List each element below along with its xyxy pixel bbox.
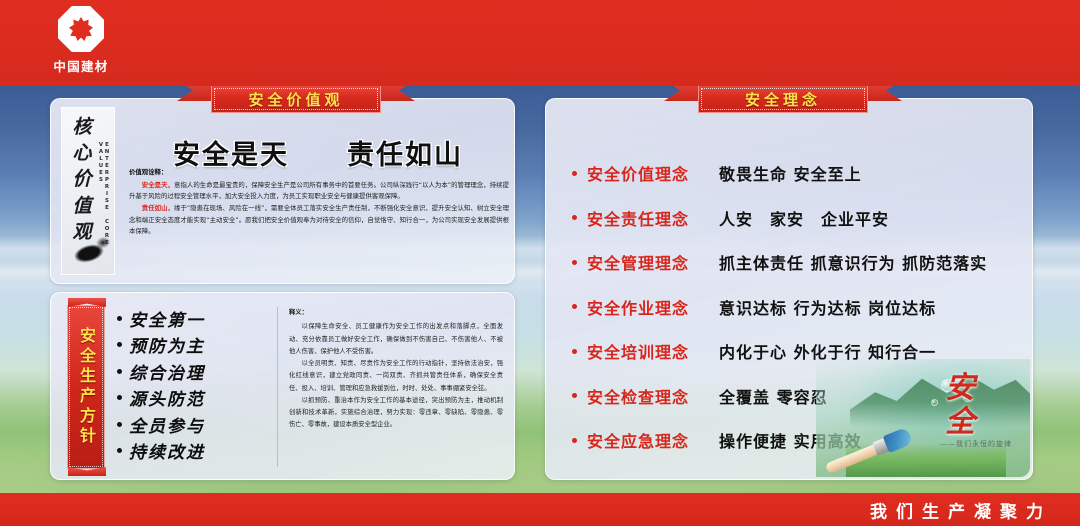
- bullet-dot-icon: [572, 304, 577, 309]
- list-item: 源头防范: [117, 385, 267, 412]
- concept-row-list: 安全价值理念 敬畏生命 安全至上 安全责任理念 人安 家安 企业平安 安全管理理…: [572, 151, 1022, 463]
- header-band: 中国建材: [0, 0, 1080, 86]
- safety-culture-poster: 中国建材 安全价值观 核心价值观 ENTERPRISE CORE VALUES …: [0, 0, 1080, 526]
- policy-item-label: 持续改进: [129, 438, 205, 463]
- safety-policy-panel: 安全生产方针 安全第一 预防为主 综合治理 源头防范 全员参与: [50, 292, 515, 480]
- policy-expl-paragraph-2: 以全员明责、知责、尽责作为安全工作的行动指针，坚持依法治安，强化红线意识，建立党…: [289, 358, 503, 395]
- policy-expl-title: 释义：: [289, 307, 503, 319]
- concept-label: 安全管理理念: [587, 250, 719, 274]
- values-ribbon-banner: 安全价值观: [211, 85, 381, 113]
- bullet-dot-icon: [117, 369, 122, 374]
- concept-value: 操作便捷 实用高效: [719, 428, 862, 452]
- bullet-dot-icon: [117, 342, 122, 347]
- concept-label: 安全责任理念: [587, 206, 719, 230]
- list-item: 安全检查理念 全覆盖 零容忍: [572, 374, 1022, 419]
- footer-slogan: 我们生产凝聚力: [870, 497, 1052, 522]
- list-item: 安全管理理念 抓主体责任 抓意识行为 抓防范落实: [572, 240, 1022, 285]
- bullet-dot-icon: [572, 349, 577, 354]
- policy-item-label: 安全第一: [129, 306, 205, 331]
- bullet-dot-icon: [572, 438, 577, 443]
- bullet-dot-icon: [572, 171, 577, 176]
- values-paragraph-2: 责任如山，缘于“隐患在现场、风险在一线”，需要全体员工落实安全生产责任制，不断强…: [129, 203, 509, 238]
- values-ribbon-title: 安全价值观: [248, 89, 343, 110]
- list-item: 预防为主: [117, 332, 267, 359]
- footer-band: 我们生产凝聚力: [0, 493, 1080, 526]
- concept-label: 安全作业理念: [587, 295, 719, 319]
- list-item: 综合治理: [117, 358, 267, 385]
- cnbm-octagon-star-logo-icon: [58, 6, 104, 52]
- concept-label: 安全应急理念: [587, 428, 719, 452]
- list-item: 安全第一: [117, 305, 267, 332]
- bullet-dot-icon: [572, 215, 577, 220]
- list-item: 安全责任理念 人安 家安 企业平安: [572, 196, 1022, 241]
- core-values-panel: 安全价值观 核心价值观 ENTERPRISE CORE VALUES 安全是天 …: [50, 98, 515, 284]
- calligraphy-strip: 核心价值观 ENTERPRISE CORE VALUES: [61, 107, 115, 275]
- bullet-dot-icon: [117, 448, 122, 453]
- list-item: 安全培训理念 内化于心 外化于行 知行合一: [572, 329, 1022, 374]
- concepts-ribbon-banner: 安全理念: [698, 85, 868, 113]
- policy-item-label: 全员参与: [129, 412, 205, 437]
- list-item: 安全价值理念 敬畏生命 安全至上: [572, 151, 1022, 196]
- policy-explanation-body: 释义： 以保障生命安全、员工健康作为安全工作的出发点和落脚点，全面发动、充分依靠…: [289, 307, 503, 432]
- concept-value: 全覆盖 零容忍: [719, 384, 828, 408]
- concept-label: 安全培训理念: [587, 339, 719, 363]
- policy-item-list: 安全第一 预防为主 综合治理 源头防范 全员参与 持续改进: [117, 305, 267, 464]
- bullet-dot-icon: [572, 260, 577, 265]
- list-item: 持续改进: [117, 438, 267, 465]
- ribbon-body: 安全价值观: [211, 85, 381, 113]
- concept-value: 意识达标 行为达标 岗位达标: [719, 295, 936, 319]
- bullet-dot-icon: [117, 395, 122, 400]
- safety-concepts-panel: 安全理念 安全价值理念 敬畏生命 安全至上 安全责任理念 人安 家安 企业平安 …: [545, 98, 1033, 480]
- bullet-dot-icon: [117, 422, 122, 427]
- concept-value: 内化于心 外化于行 知行合一: [719, 339, 936, 363]
- values-body-title: 价值观诠释：: [129, 167, 509, 179]
- values-para2-text: 缘于“隐患在现场、风险在一线”，需要全体员工落实安全生产责任制，不断强化安全意识…: [129, 204, 509, 235]
- concept-value: 抓主体责任 抓意识行为 抓防范落实: [719, 250, 987, 274]
- policy-item-label: 源头防范: [129, 385, 205, 410]
- list-item: 全员参与: [117, 411, 267, 438]
- values-para2-lead: 责任如山，: [142, 204, 174, 212]
- brand-name: 中国建材: [53, 56, 108, 75]
- concept-value: 人安 家安 企业平安: [719, 206, 889, 230]
- bullet-dot-icon: [572, 393, 577, 398]
- policy-expl-paragraph-3: 以抓预防、重治本作为安全工作的基本途径，突出预防为主，推动机制创新和技术革新，实…: [289, 395, 503, 432]
- brand-logo: 中国建材: [44, 6, 118, 80]
- concept-label: 安全价值理念: [587, 161, 719, 185]
- ribbon-body: 安全理念: [698, 85, 868, 113]
- concept-label: 安全检查理念: [587, 384, 719, 408]
- calligraphy-chinese-text: 核心价值观: [67, 114, 97, 245]
- policy-item-label: 综合治理: [129, 359, 205, 384]
- policy-vertical-banner: 安全生产方针: [67, 305, 105, 469]
- bullet-dot-icon: [117, 316, 122, 321]
- policy-banner-title: 安全生产方针: [74, 327, 98, 447]
- policy-expl-paragraph-1: 以保障生命安全、员工健康作为安全工作的出发点和落脚点，全面发动、充分依靠员工做好…: [289, 321, 503, 358]
- panel-divider: [277, 307, 278, 467]
- values-explanation-body: 价值观诠释： 安全是天，意指人的生命是最宝贵的，保障安全生产是公司所有事务中的首…: [129, 167, 509, 238]
- concept-value: 敬畏生命 安全至上: [719, 161, 862, 185]
- list-item: 安全应急理念 操作便捷 实用高效: [572, 418, 1022, 463]
- policy-item-label: 预防为主: [129, 332, 205, 357]
- concepts-ribbon-title: 安全理念: [745, 89, 821, 110]
- values-para1-lead: 安全是天，: [142, 181, 174, 189]
- values-paragraph-1: 安全是天，意指人的生命是最宝贵的，保障安全生产是公司所有事务中的首要任务。公司纵…: [129, 180, 509, 203]
- values-para1-text: 意指人的生命是最宝贵的，保障安全生产是公司所有事务中的首要任务。公司纵深践行“以…: [129, 181, 509, 201]
- list-item: 安全作业理念 意识达标 行为达标 岗位达标: [572, 285, 1022, 330]
